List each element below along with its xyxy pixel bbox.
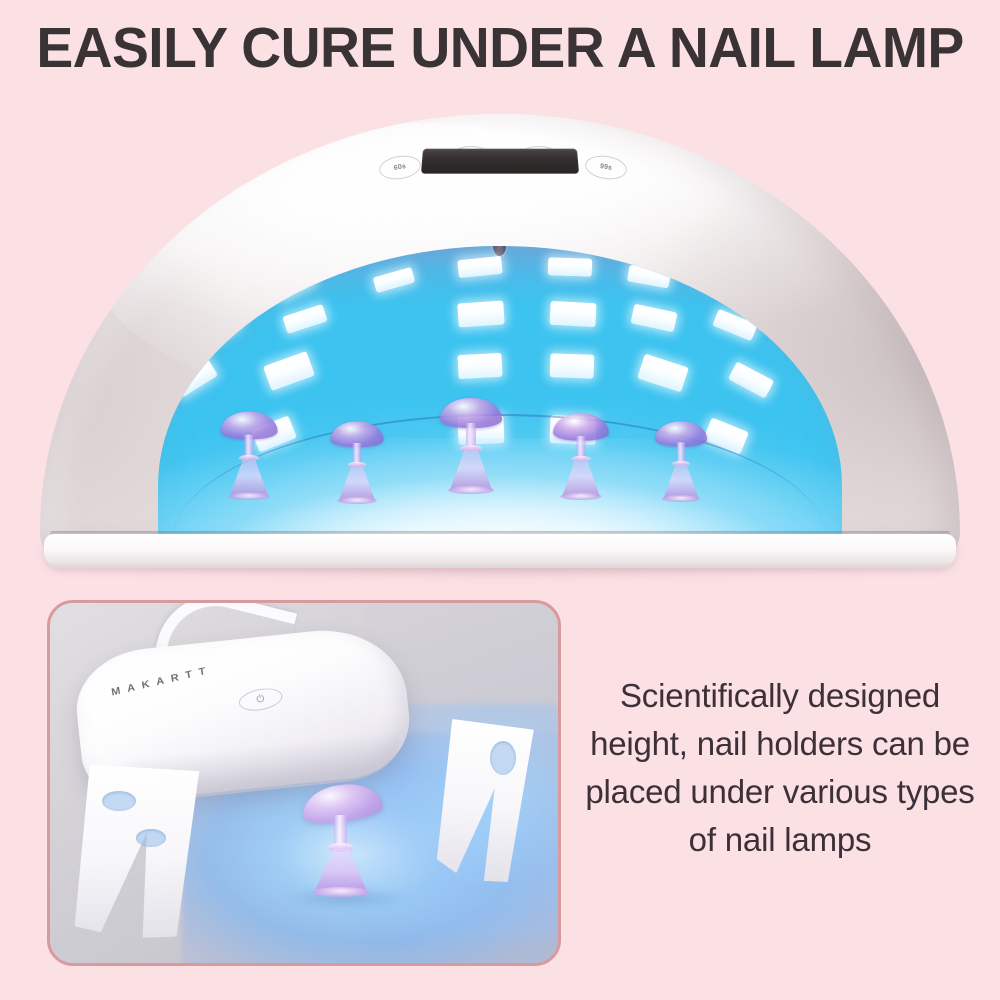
- holder-foot: [312, 887, 370, 897]
- nail-holder: [440, 398, 502, 494]
- nail-holder: [330, 421, 383, 504]
- leg-vent-hole: [136, 829, 166, 847]
- led-chip: [263, 351, 315, 391]
- holder-foot: [337, 497, 377, 504]
- timer-99s-button[interactable]: 99s: [583, 153, 628, 182]
- timer-99s-label: 99s: [599, 163, 612, 172]
- mini-lamp-power-button[interactable]: ⏻: [237, 685, 284, 714]
- led-chip: [282, 304, 328, 334]
- led-chip: [637, 354, 689, 393]
- lamp-base: [44, 534, 956, 568]
- holder-foot: [662, 495, 701, 502]
- brand-logo-text: MAKARTT: [111, 664, 213, 698]
- mini-nail-lamp-photo: MAKARTT ⏻: [47, 600, 561, 966]
- led-chip: [548, 257, 593, 277]
- led-chip: [457, 353, 502, 379]
- led-chip: [630, 304, 677, 333]
- hero-product-image: 60s 30s ⏻ 99s: [0, 96, 1000, 586]
- lcd-display: [421, 149, 579, 174]
- holder-foot: [448, 486, 494, 494]
- holder-base: [230, 460, 269, 497]
- nail-holder: [220, 412, 277, 500]
- lamp-dome-shell: 60s 30s ⏻ 99s: [40, 114, 960, 559]
- holder-base: [562, 460, 600, 496]
- nail-holder: [553, 414, 609, 500]
- power-icon: ⏻: [256, 693, 266, 705]
- led-chip: [198, 311, 241, 346]
- led-chip: [457, 300, 505, 327]
- leg-vent-hole: [490, 741, 516, 775]
- nail-holder: [655, 421, 707, 502]
- holder-base: [450, 450, 492, 490]
- holder-base: [663, 465, 698, 499]
- timer-60s-button[interactable]: 60s: [377, 153, 422, 182]
- led-chip: [172, 358, 218, 397]
- holder-foot: [228, 493, 270, 500]
- led-chip: [550, 353, 595, 379]
- leg-vent-hole: [102, 791, 136, 811]
- led-chip: [712, 309, 758, 341]
- feature-caption: Scientifically designed height, nail hol…: [572, 672, 988, 864]
- led-chip: [549, 301, 596, 327]
- timer-60s-label: 60s: [393, 163, 406, 172]
- holder-base: [339, 466, 375, 500]
- page-title: EASILY CURE UNDER A NAIL LAMP: [15, 14, 985, 82]
- holder-foot: [560, 493, 601, 500]
- lamp-inner-cavity: [158, 246, 842, 546]
- nail-holder: [302, 785, 382, 897]
- led-chip: [728, 361, 774, 398]
